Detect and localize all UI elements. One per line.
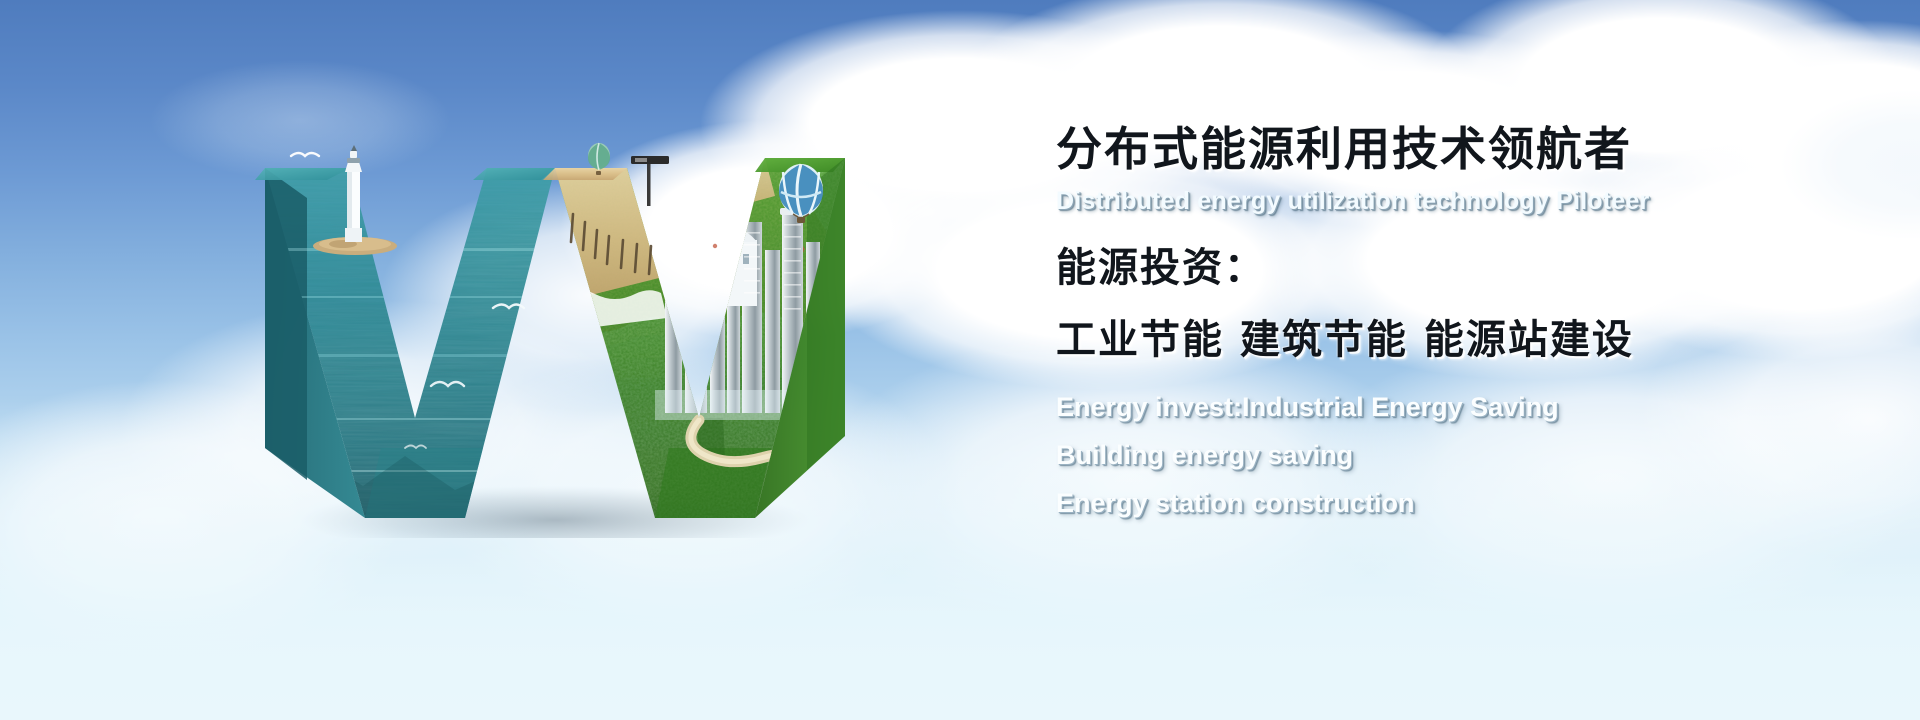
energy-invest-label: 能源投资： xyxy=(1056,248,1876,288)
service-english-1: Energy invest:Industrial Energy Saving xyxy=(1056,394,1876,421)
headline-chinese: 分布式能源利用技术领航者 xyxy=(1056,126,1876,172)
banner-copy: 分布式能源利用技术领航者 Distributed energy utilizat… xyxy=(1056,126,1876,517)
headline-english: Distributed energy utilization technolog… xyxy=(1056,188,1876,214)
service-english-2: Building energy saving xyxy=(1056,442,1876,469)
signpost-icon xyxy=(631,156,669,206)
letter-w-logo xyxy=(255,118,885,538)
hero-banner: 分布式能源利用技术领航者 Distributed energy utilizat… xyxy=(0,0,1920,720)
ocean-letter-stroke xyxy=(255,168,575,523)
service-english-3: Energy station construction xyxy=(1056,490,1876,517)
services-chinese: 工业节能 建筑节能 能源站建设 xyxy=(1056,320,1876,360)
